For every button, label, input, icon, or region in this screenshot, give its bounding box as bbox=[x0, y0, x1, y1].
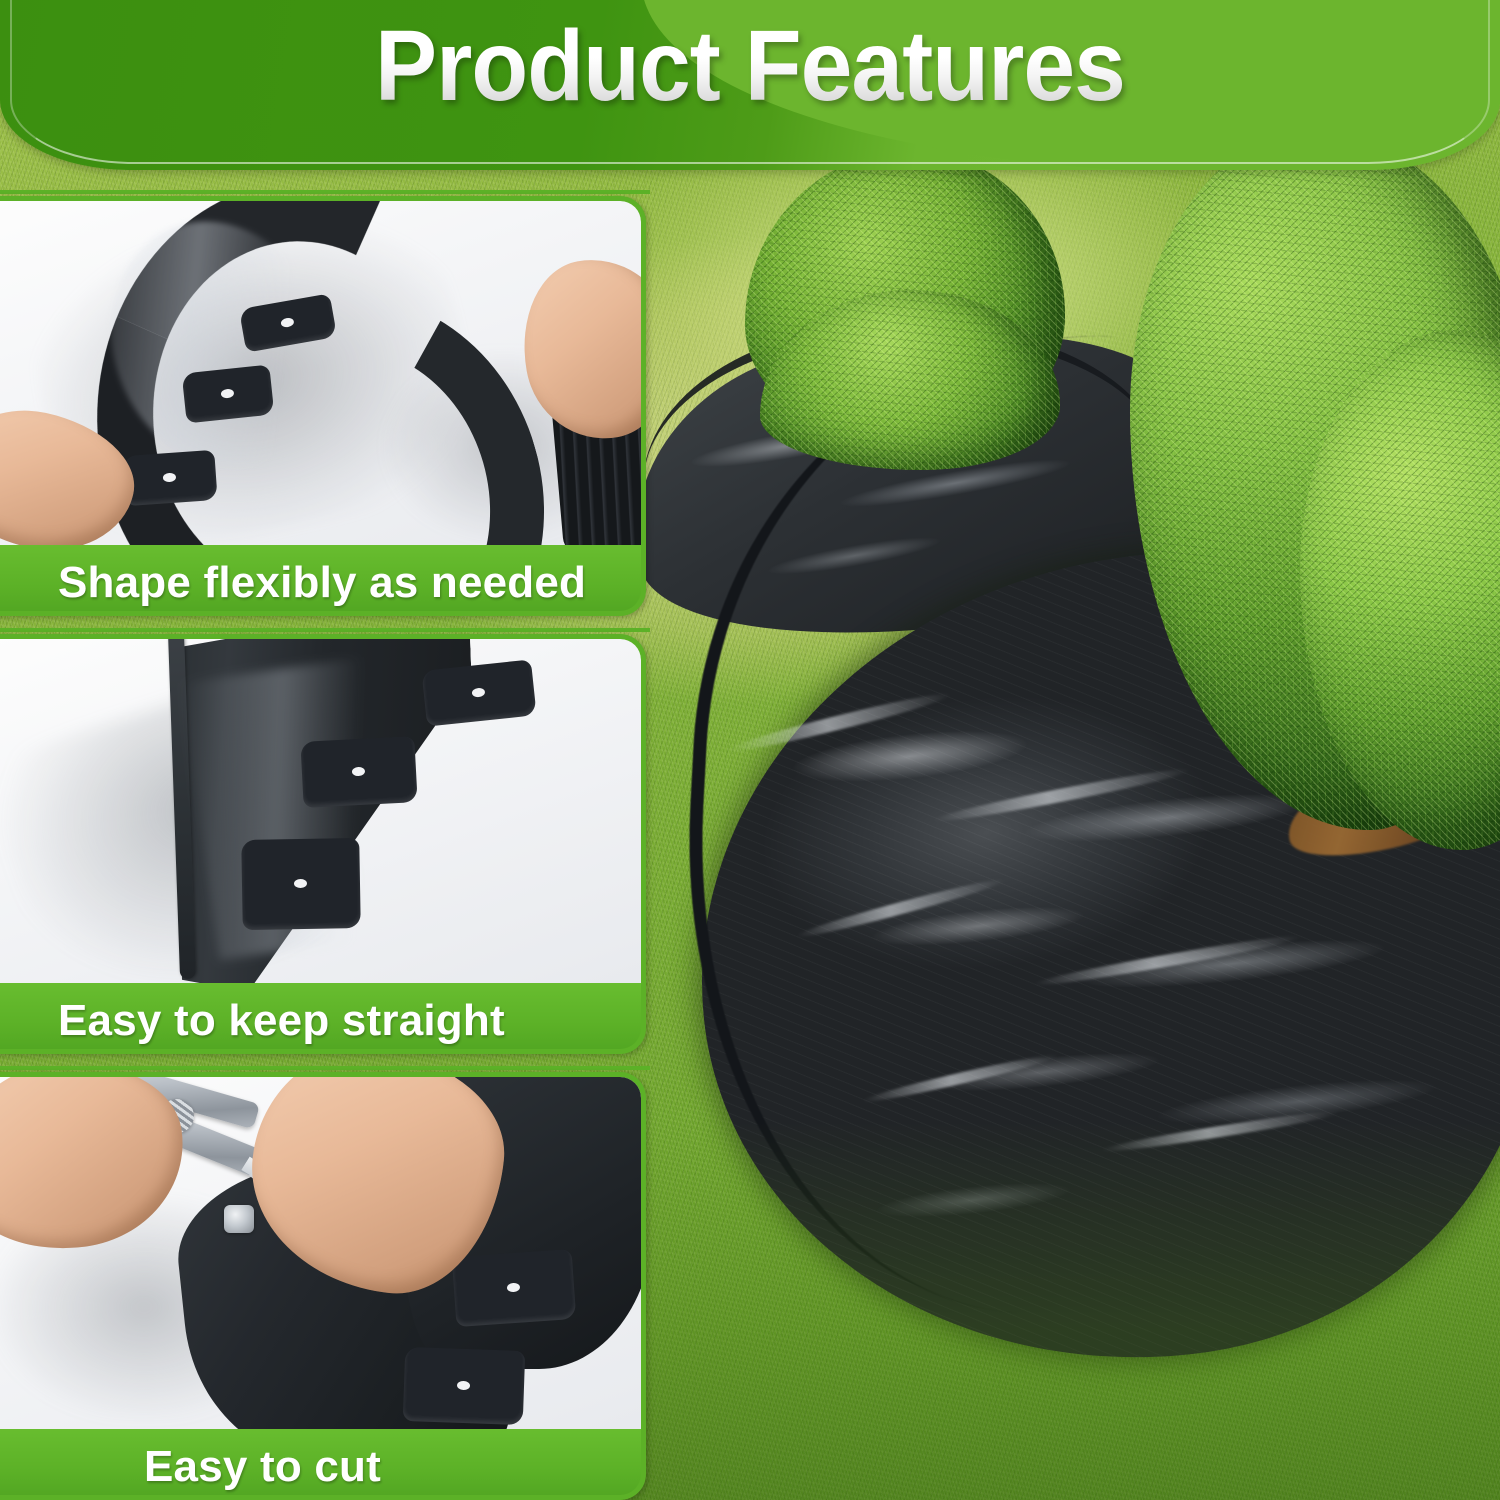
divider-rule bbox=[0, 628, 650, 632]
feature-caption-text: Easy to cut bbox=[0, 1442, 381, 1492]
product-features-infographic: Product Features Two hands bending a fle… bbox=[0, 0, 1500, 1500]
feature-caption-bar: Easy to cut bbox=[0, 1429, 641, 1500]
anchor-stake bbox=[403, 1347, 526, 1425]
grass-shadow-area bbox=[620, 1120, 1500, 1500]
page-title: Product Features bbox=[53, 16, 1448, 116]
shears-pivot-bolt bbox=[224, 1205, 254, 1233]
anchor-stake bbox=[452, 1249, 577, 1327]
anchor-stake bbox=[182, 365, 275, 424]
divider-rule bbox=[0, 190, 650, 194]
anchor-stake bbox=[241, 838, 361, 930]
feature-caption-text: Easy to keep straight bbox=[0, 996, 505, 1046]
anchor-stake bbox=[300, 736, 417, 808]
header-banner: Product Features bbox=[0, 0, 1500, 170]
divider-rule bbox=[0, 1066, 650, 1070]
photo-easy-to-cut: Hands using metal shears to cut through … bbox=[0, 1077, 641, 1429]
feature-card-keep-straight[interactable]: A black plastic lawn edging strip standi… bbox=[0, 634, 646, 1054]
anchor-stake bbox=[122, 450, 217, 506]
photo-shape-flexibly: Two hands bending a flexible black plast… bbox=[0, 201, 641, 545]
feature-card-shape-flexibly[interactable]: Two hands bending a flexible black plast… bbox=[0, 196, 646, 616]
feature-card-easy-to-cut[interactable]: Hands using metal shears to cut through … bbox=[0, 1072, 646, 1500]
photo-keep-straight: A black plastic lawn edging strip standi… bbox=[0, 639, 641, 983]
feature-caption-bar: Shape flexibly as needed bbox=[0, 545, 641, 616]
feature-card-list: Two hands bending a flexible black plast… bbox=[0, 196, 650, 1500]
anchor-stake bbox=[421, 659, 536, 726]
feature-caption-bar: Easy to keep straight bbox=[0, 983, 641, 1054]
feature-caption-text: Shape flexibly as needed bbox=[0, 558, 586, 608]
